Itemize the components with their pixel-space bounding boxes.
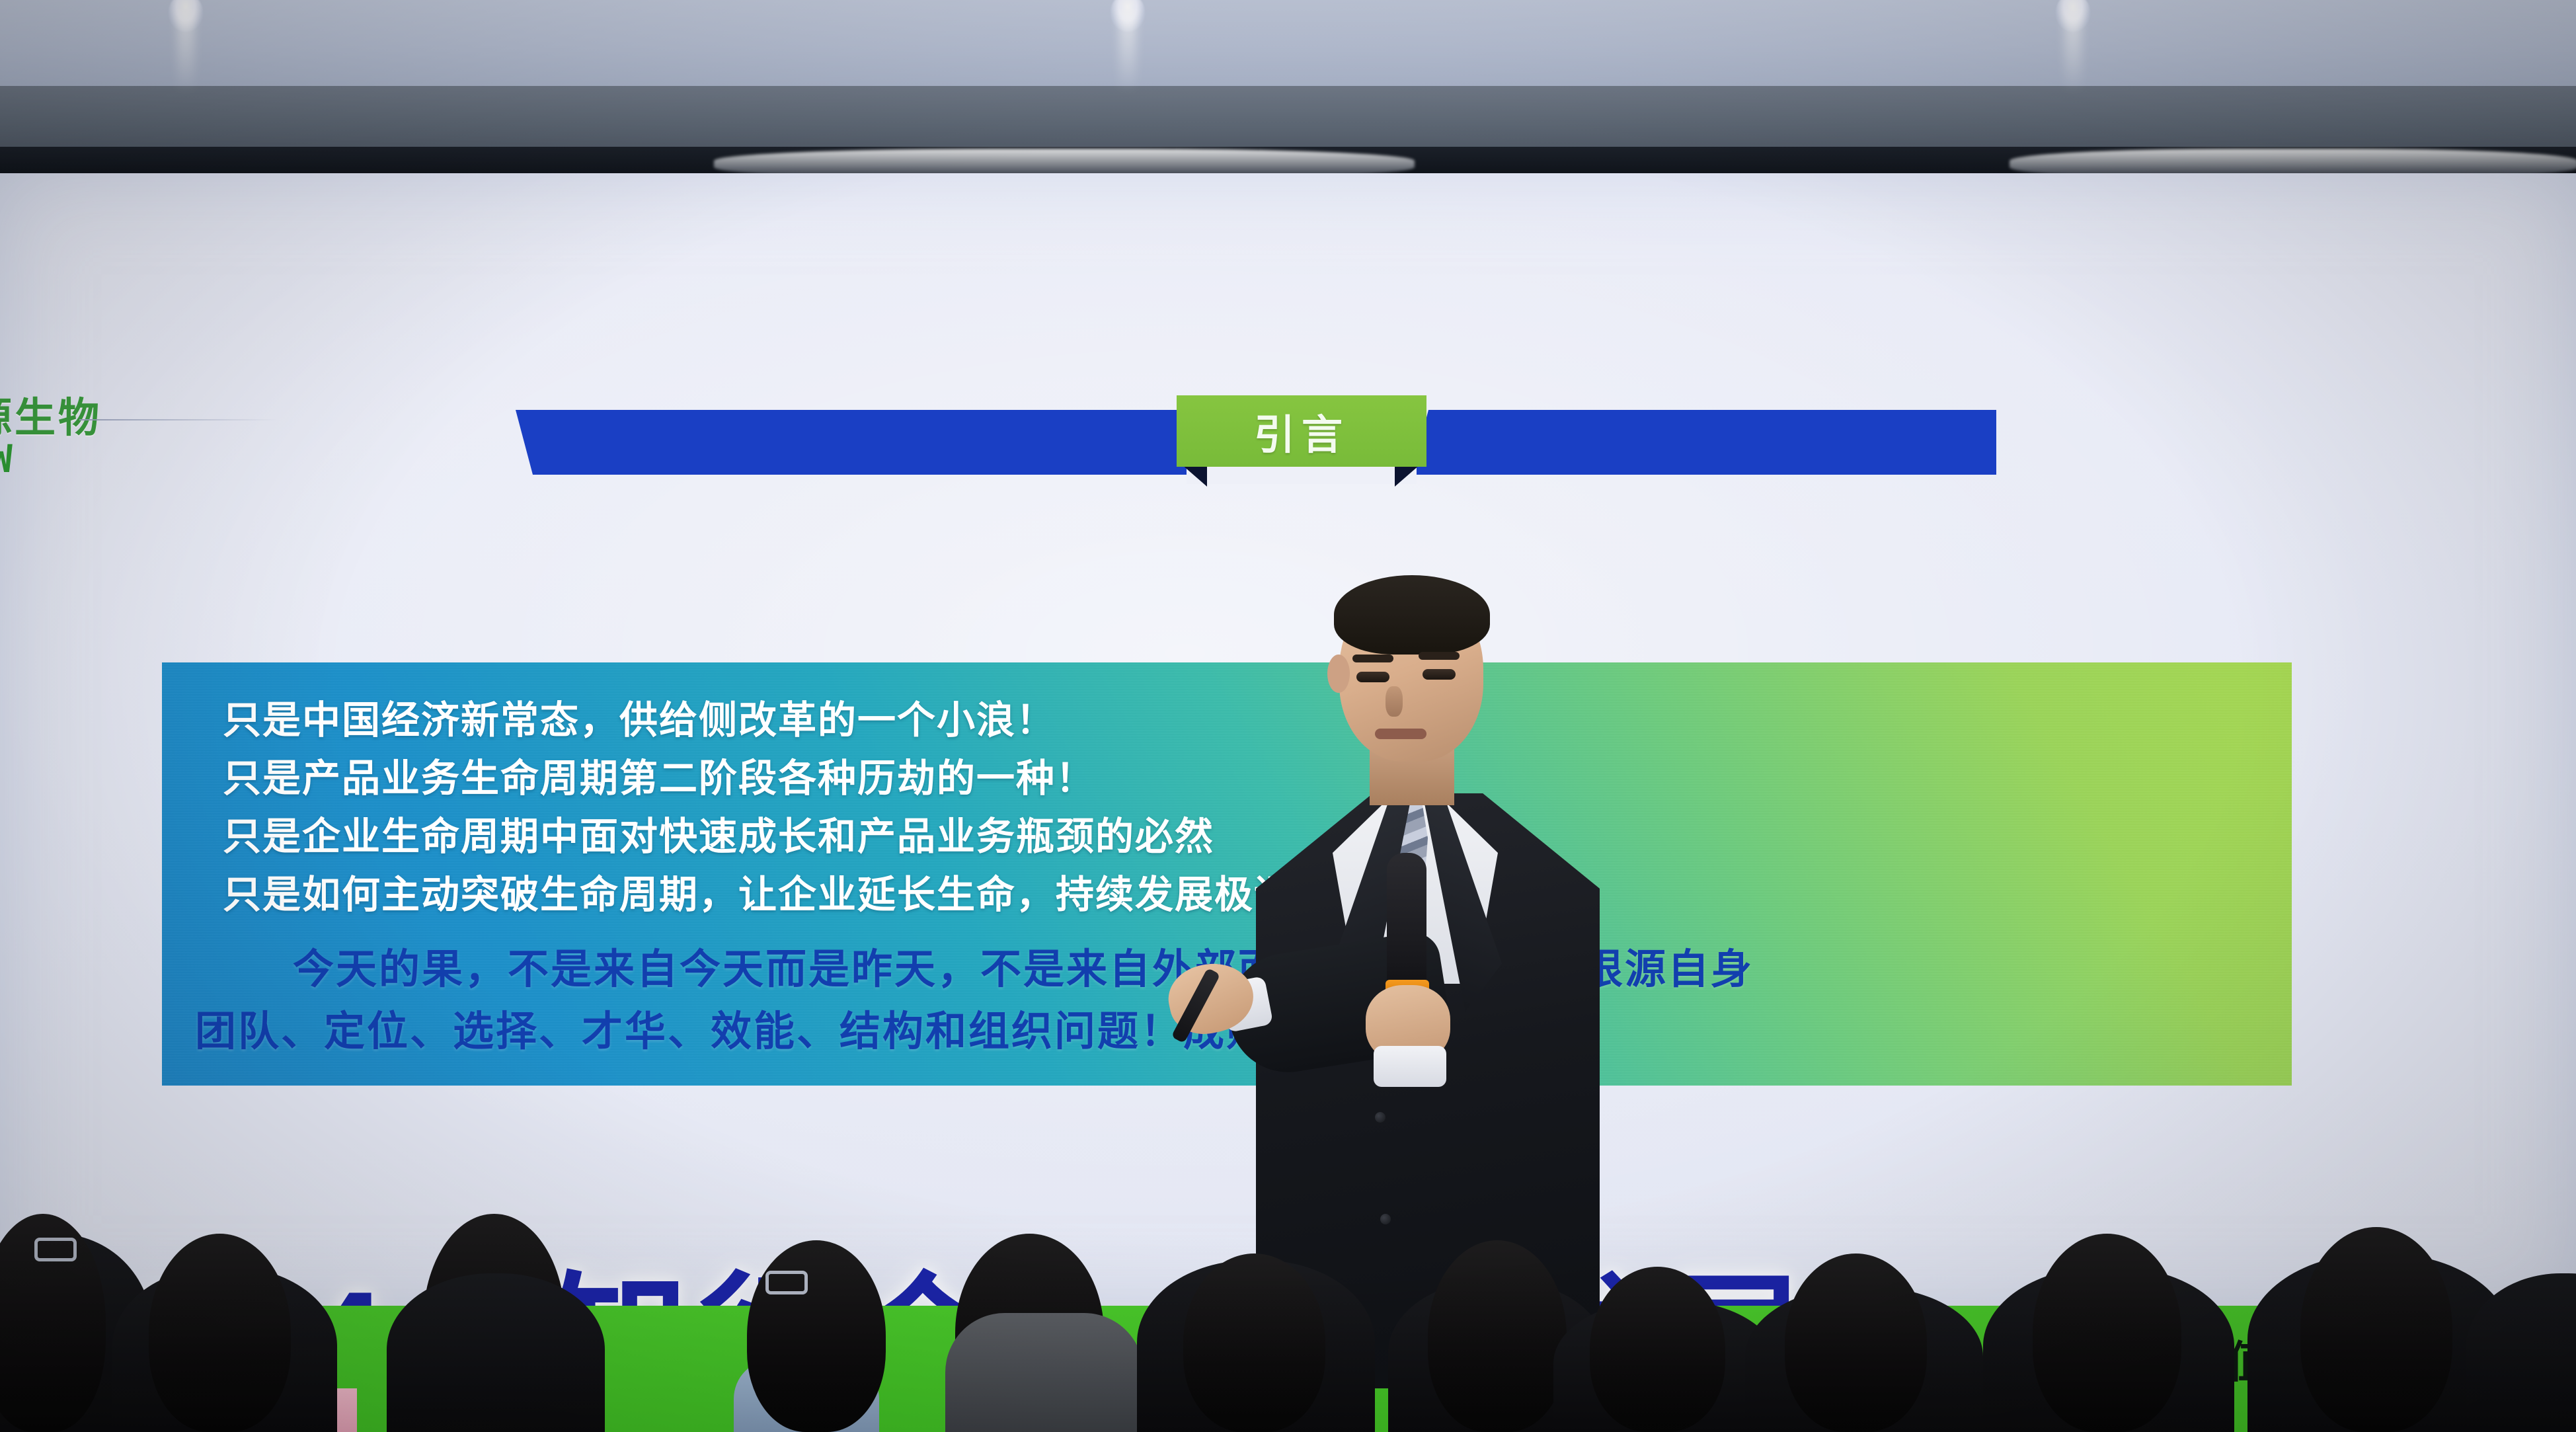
audience-head bbox=[2300, 1227, 2452, 1432]
logo-divider-rule bbox=[79, 419, 278, 420]
audience-shoulders bbox=[945, 1313, 1144, 1432]
speaker-eyebrow bbox=[1352, 655, 1393, 662]
ribbon-shelf bbox=[1187, 467, 1417, 484]
speaker-nose bbox=[1386, 686, 1403, 717]
audience-head bbox=[1785, 1253, 1927, 1432]
downlight-glow bbox=[177, 12, 194, 91]
slide-header-ribbon: 引言 bbox=[516, 410, 1996, 475]
slide-logo: 根源生物 GBW bbox=[0, 398, 126, 479]
audience-shoulders bbox=[387, 1273, 605, 1432]
panel-line-suffix: 中面对快速成长和产品业务瓶颈的必然 bbox=[540, 815, 1214, 858]
conference-photo: 根源生物 GBW 引言 只是中国经济新常态，供给侧改革的一个小浪！ 只是产品 bbox=[0, 0, 2576, 1432]
audience-head bbox=[1590, 1267, 1725, 1432]
audience-head bbox=[1183, 1253, 1325, 1432]
speaker-shirt-cuff bbox=[1374, 1046, 1446, 1087]
slide-section-tab-label: 引言 bbox=[1254, 401, 1349, 461]
panel-line-emphasis: 中国经济新常态，供给侧改革的一个小浪！ bbox=[302, 699, 1056, 742]
logo-latin-text: GBW bbox=[0, 439, 126, 479]
panel-line-emphasis: 让企业延长生命，持续发展 bbox=[738, 873, 1214, 916]
logo-chinese-text: 根源生物 bbox=[0, 398, 126, 439]
audience-head bbox=[2033, 1234, 2181, 1432]
speaker-eyebrow bbox=[1419, 652, 1460, 660]
glasses-icon bbox=[765, 1271, 808, 1294]
audience-head bbox=[1428, 1240, 1567, 1432]
panel-line-prefix: 只是如何主动突破生命周期， bbox=[223, 873, 738, 916]
audience-row bbox=[0, 1097, 2576, 1432]
downlight-glow bbox=[1119, 12, 1136, 91]
speaker-hair bbox=[1334, 575, 1490, 655]
speaker-ear bbox=[1327, 655, 1350, 693]
speaker-mouth bbox=[1375, 729, 1426, 739]
panel-line-prefix: 只是 bbox=[223, 699, 302, 742]
speaker-eye bbox=[1356, 672, 1389, 682]
downlight-glow bbox=[2064, 12, 2082, 91]
panel-line-prefix: 只是 bbox=[223, 815, 302, 858]
panel-line-prefix: 只是 bbox=[223, 757, 302, 800]
ceiling bbox=[0, 0, 2576, 86]
glasses-icon bbox=[34, 1238, 77, 1261]
audience-head bbox=[149, 1234, 291, 1432]
slide-section-tab: 引言 bbox=[1177, 395, 1426, 467]
ceiling-band bbox=[0, 86, 2576, 149]
panel-line-emphasis: 产品业务生命周期第二阶段各种历劫的一种！ bbox=[302, 757, 1095, 800]
speaker-eye bbox=[1423, 669, 1456, 680]
ribbon-left-bar bbox=[516, 410, 1200, 475]
panel-line-emphasis: 企业生命周期 bbox=[302, 815, 540, 858]
audience-head bbox=[747, 1240, 886, 1432]
ribbon-right-bar bbox=[1411, 410, 1996, 475]
